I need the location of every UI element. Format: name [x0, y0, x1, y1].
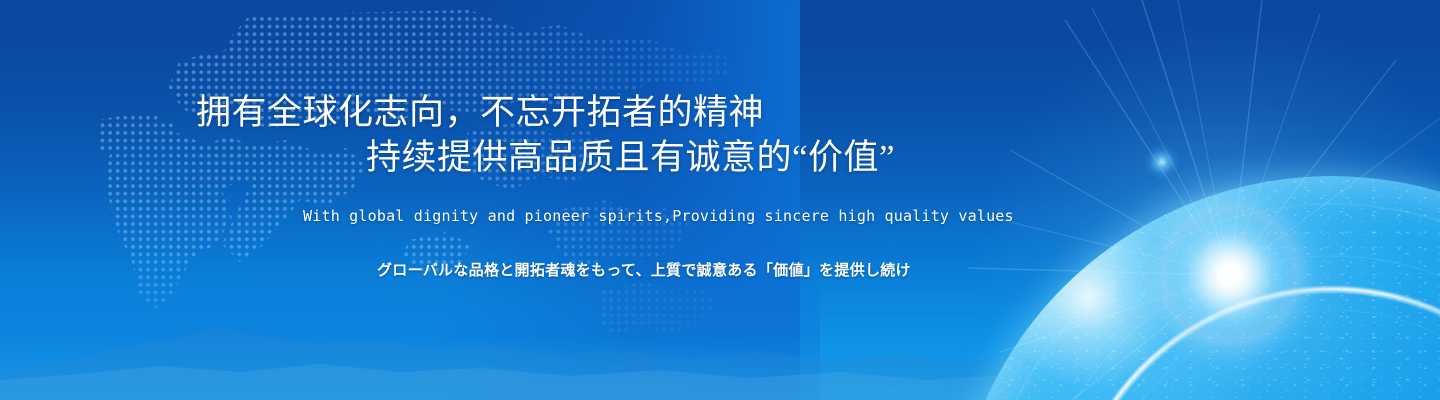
banner-headline: 拥有全球化志向，不忘开拓者的精神 持续提供高品质且有诚意的“价值” [196, 90, 895, 180]
banner-subtitle-japanese: グローバルな品格と開拓者魂をもって、上質で誠意ある「価値」を提供し続け [377, 259, 911, 281]
banner-subtitle-english: With global dignity and pioneer spirits,… [303, 206, 1014, 226]
headline-line-2: 持续提供高品质且有诚意的“价值” [196, 135, 895, 180]
banner-copy: 拥有全球化志向，不忘开拓者的精神 持续提供高品质且有诚意的“价值” With g… [0, 0, 1440, 400]
headline-line-1: 拥有全球化志向，不忘开拓者的精神 [196, 93, 764, 132]
hero-banner: 拥有全球化志向，不忘开拓者的精神 持续提供高品质且有诚意的“价值” With g… [0, 0, 1440, 400]
